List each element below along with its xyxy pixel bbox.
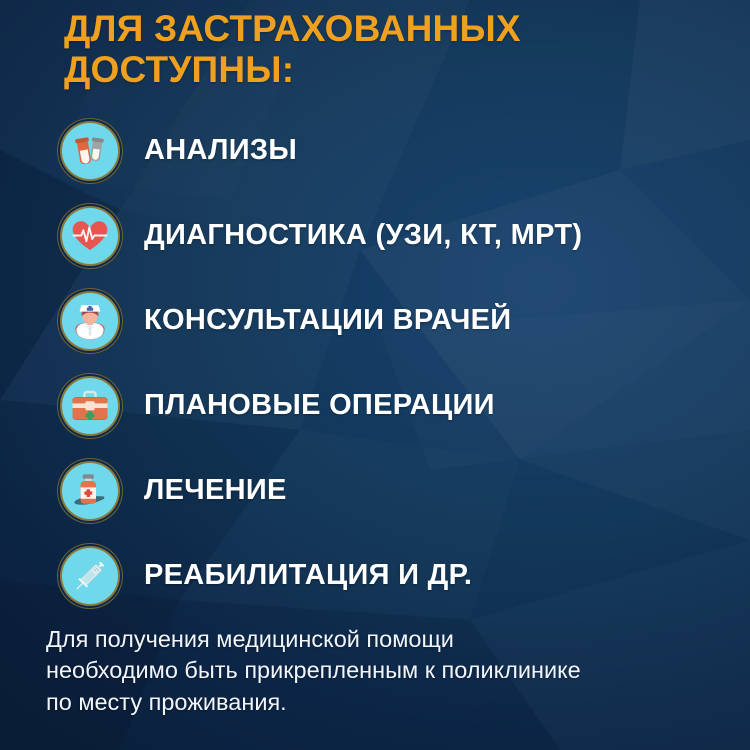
heart-ecg-icon [62, 208, 118, 264]
footer-note: Для получения медицинской помощи необход… [46, 624, 718, 718]
services-list: АНАЛИЗЫ ДИАГНОСТИКА (УЗИ, КТ, МРТ) [0, 108, 750, 618]
medicine-bottle-icon [62, 463, 118, 519]
list-item-label: РЕАБИЛИТАЦИЯ И ДР. [144, 559, 472, 592]
infographic-poster: ДЛЯ ЗАСТРАХОВАННЫХ ДОСТУПНЫ: [0, 0, 750, 750]
list-item-label: ПЛАНОВЫЕ ОПЕРАЦИИ [144, 389, 495, 422]
list-item-label: ЛЕЧЕНИЕ [144, 474, 287, 507]
test-tubes-icon [62, 123, 118, 179]
list-item[interactable]: КОНСУЛЬТАЦИИ ВРАЧЕЙ [0, 278, 750, 363]
list-item[interactable]: РЕАБИЛИТАЦИЯ И ДР. [0, 533, 750, 618]
nurse-icon [62, 293, 118, 349]
list-item[interactable]: ПЛАНОВЫЕ ОПЕРАЦИИ [0, 363, 750, 448]
list-item-label: ДИАГНОСТИКА (УЗИ, КТ, МРТ) [144, 219, 582, 252]
page-title: ДЛЯ ЗАСТРАХОВАННЫХ ДОСТУПНЫ: [64, 8, 684, 91]
first-aid-kit-icon [62, 378, 118, 434]
list-item[interactable]: ЛЕЧЕНИЕ [0, 448, 750, 533]
list-item[interactable]: АНАЛИЗЫ [0, 108, 750, 193]
list-item-label: КОНСУЛЬТАЦИИ ВРАЧЕЙ [144, 304, 511, 337]
list-item[interactable]: ДИАГНОСТИКА (УЗИ, КТ, МРТ) [0, 193, 750, 278]
list-item-label: АНАЛИЗЫ [144, 134, 297, 167]
syringe-icon [62, 548, 118, 604]
